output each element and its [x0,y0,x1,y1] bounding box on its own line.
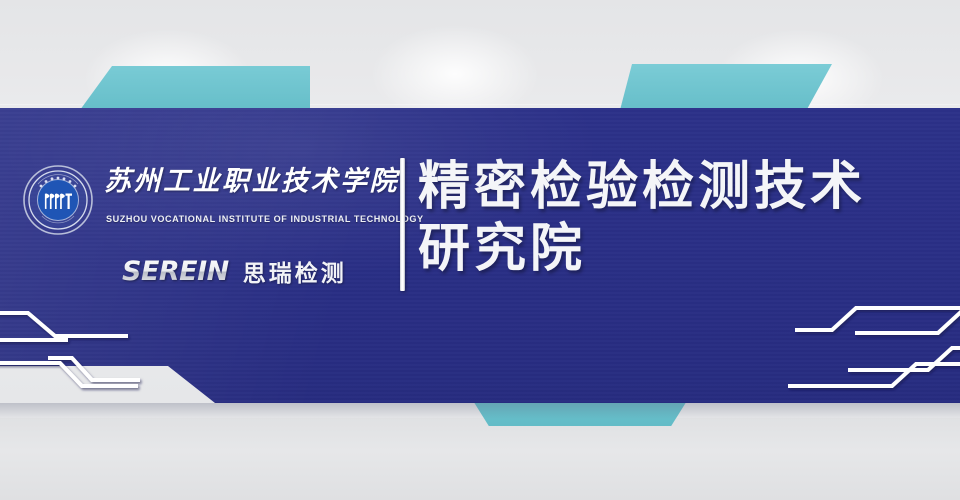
vertical-divider-bar [400,158,405,291]
panel-floor-shadow [0,403,960,419]
title-line-2: 研究院 [418,218,948,280]
serein-brand-cn: 思瑞检测 [243,254,347,288]
teal-accent-top-right [620,64,832,110]
institution-logo-block: 苏州工业职业技术学院 SUZHOU VOCATIONAL INSTITUTE O… [18,158,390,292]
university-name-en: SUZHOU VOCATIONAL INSTITUTE OF INDUSTRIA… [106,214,406,224]
title-line-1: 精密检验检测技术 [418,158,866,216]
university-name-cn: 苏州工业职业技术学院 [104,166,396,196]
signage-scene: 苏州工业职业技术学院 SUZHOU VOCATIONAL INSTITUTE O… [0,0,960,500]
page-title: 精密检验检测技术 研究院 [418,156,948,280]
university-seal-icon [22,164,94,236]
floor-surface [0,418,960,500]
partner-brand-row: SEREIN 思瑞检测 [122,254,392,288]
teal-accent-top-left [80,66,310,110]
serein-brand-en: SEREIN [122,256,229,287]
